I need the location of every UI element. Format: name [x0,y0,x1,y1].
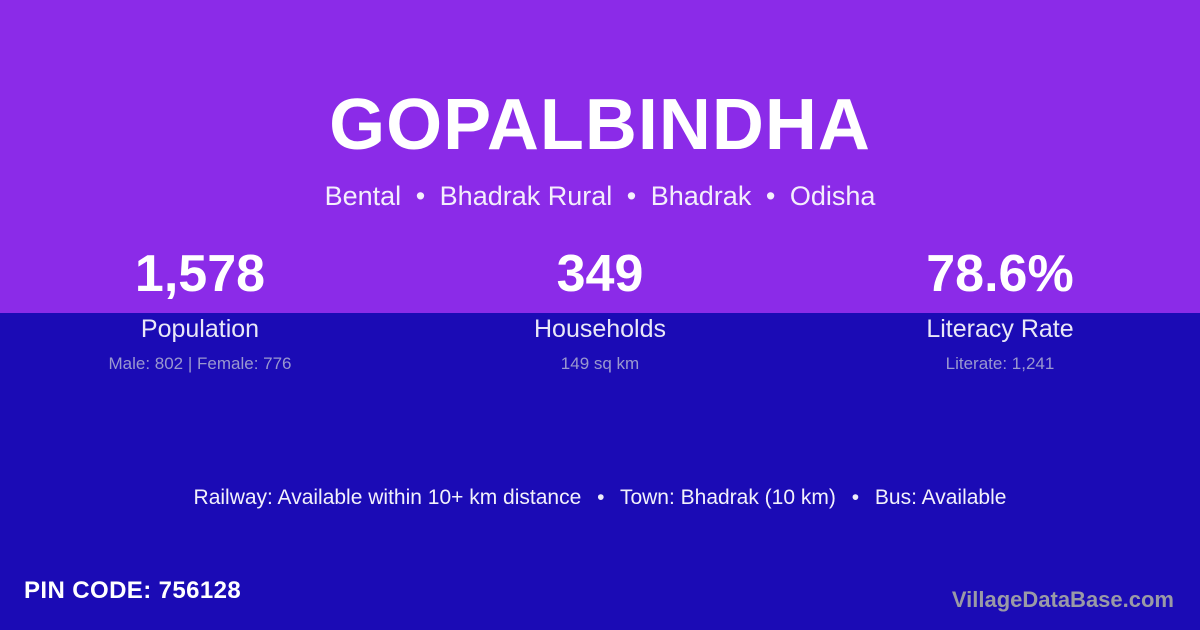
card-header: GOPALBINDHA Bental • Bhadrak Rural • Bha… [0,0,1200,212]
amenity-town: Town: Bhadrak (10 km) [620,486,836,509]
stat-label: Population [0,314,400,344]
amenity-separator-icon: • [587,486,614,509]
site-brand-watermark: VillageDataBase.com [952,586,1174,614]
page-title: GOPALBINDHA [0,84,1200,166]
stat-sublabel: Literate: 1,241 [800,353,1200,374]
amenities-row: Railway: Available within 10+ km distanc… [0,484,1200,512]
breadcrumb-item-district: Bhadrak [651,181,752,211]
stat-sublabel: Male: 802 | Female: 776 [0,353,400,374]
breadcrumb-separator-icon: • [409,181,432,211]
stat-value: 349 [400,243,800,305]
breadcrumb-separator-icon: • [620,181,643,211]
pin-code-label: PIN CODE: 756128 [24,576,241,606]
breadcrumb-item-state: Odisha [790,181,876,211]
amenity-separator-icon: • [842,486,869,509]
stat-literacy-rate: 78.6% Literacy Rate Literate: 1,241 [800,243,1200,374]
stat-households: 349 Households 149 sq km [400,243,800,374]
amenity-railway: Railway: Available within 10+ km distanc… [194,486,582,509]
stat-label: Households [400,314,800,344]
stat-sublabel: 149 sq km [400,353,800,374]
amenity-bus: Bus: Available [875,486,1007,509]
breadcrumb-separator-icon: • [759,181,782,211]
stat-value: 1,578 [0,243,400,305]
stat-label: Literacy Rate [800,314,1200,344]
breadcrumb: Bental • Bhadrak Rural • Bhadrak • Odish… [0,180,1200,212]
stats-row: 1,578 Population Male: 802 | Female: 776… [0,243,1200,374]
breadcrumb-item-block: Bhadrak Rural [440,181,613,211]
stat-value: 78.6% [800,243,1200,305]
village-info-card: GOPALBINDHA Bental • Bhadrak Rural • Bha… [0,0,1200,630]
stat-population: 1,578 Population Male: 802 | Female: 776 [0,243,400,374]
breadcrumb-item-panchayat: Bental [325,181,402,211]
